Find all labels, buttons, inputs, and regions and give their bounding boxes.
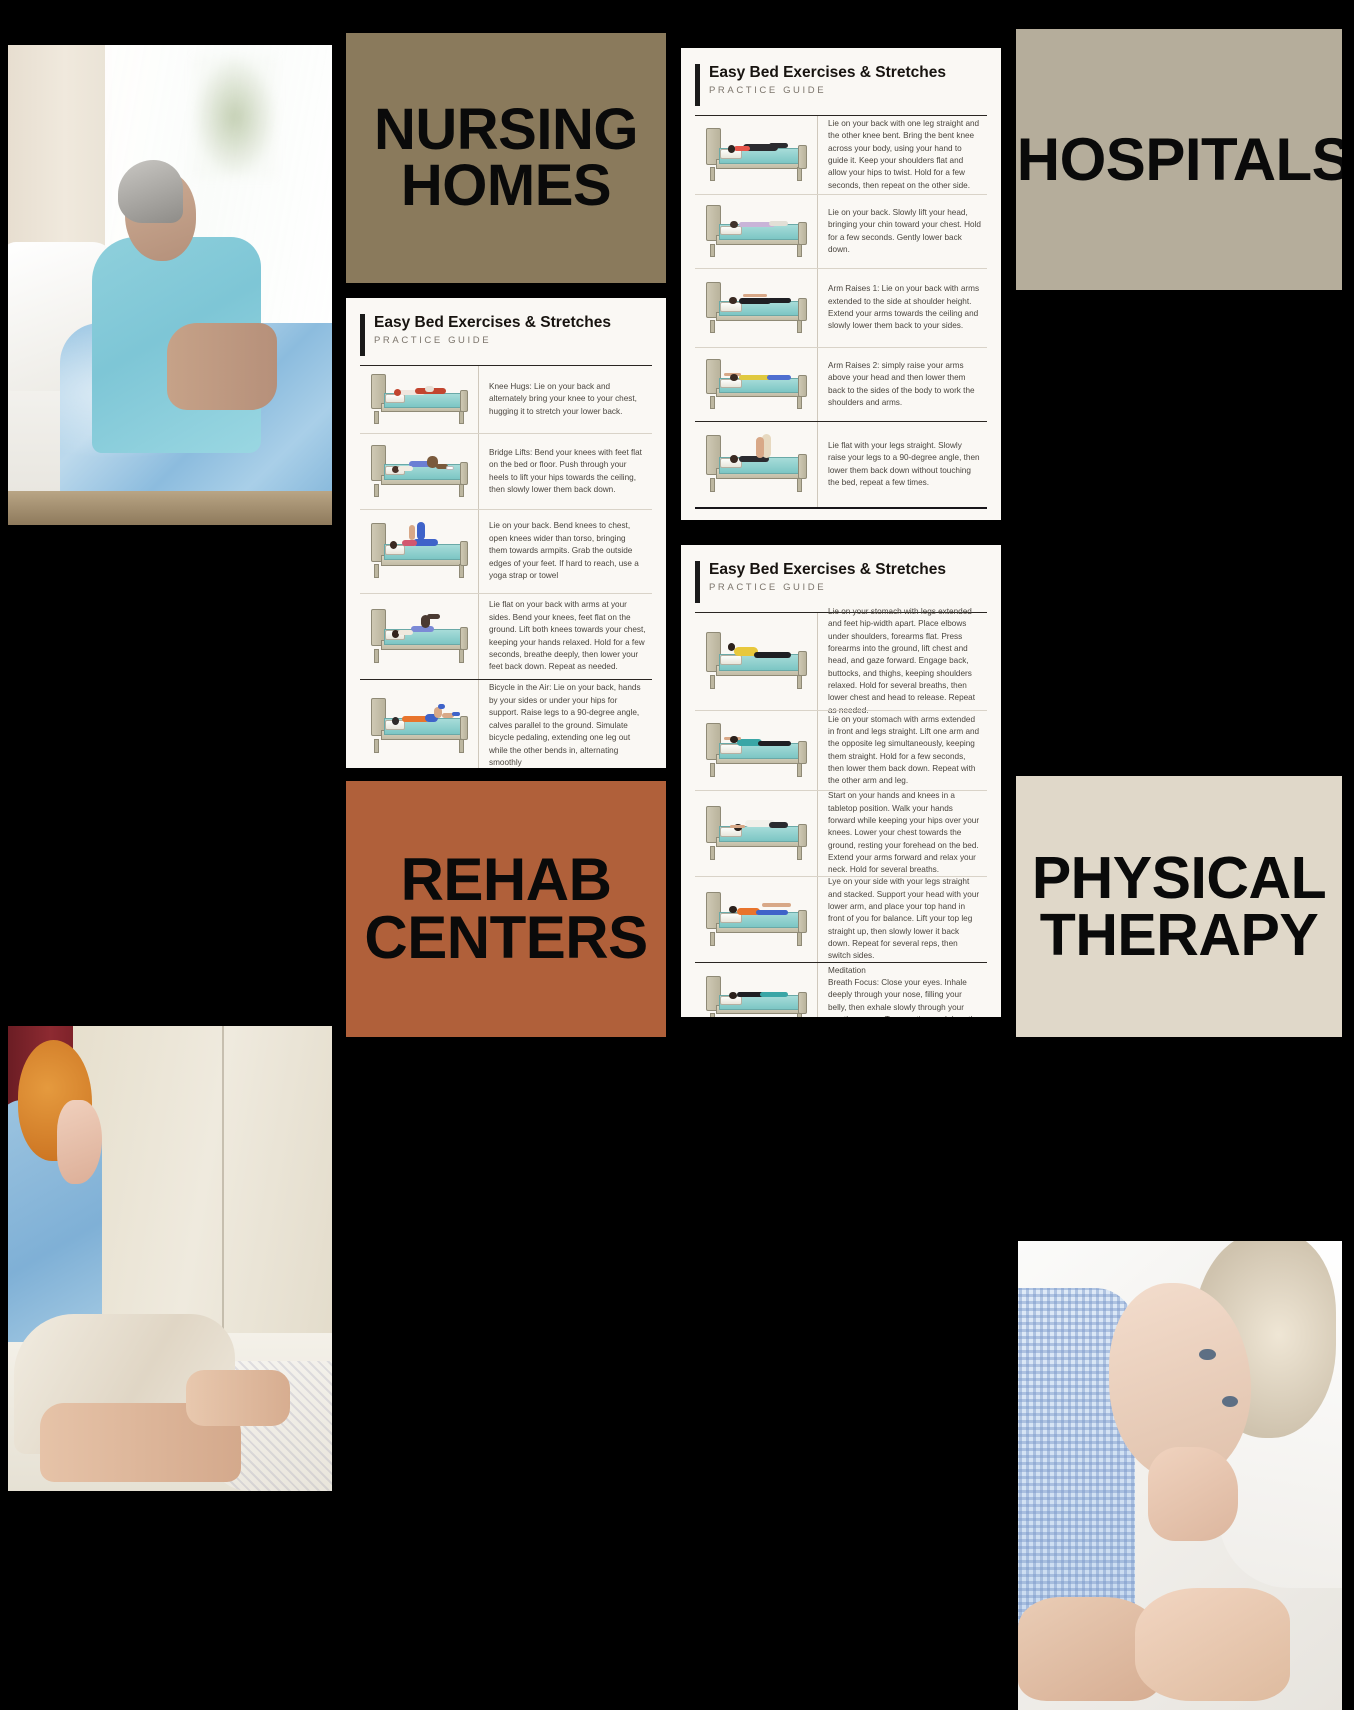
- guide-row-text: Arm Raises 1: Lie on your back with arms…: [817, 269, 987, 347]
- bed-illustration: [702, 973, 810, 1018]
- guide-row-text: Lie on your stomach with arms extended i…: [817, 711, 987, 790]
- guide-card-2-rows: Lie on your back with one leg straight a…: [695, 115, 987, 512]
- exercise-text: Bicycle in the Air: Lie on your back, ha…: [489, 682, 646, 768]
- collage-canvas: NURSING HOMES HOSPITALS REHAB CENTERS PH…: [0, 0, 1354, 1083]
- bed-illustration: [702, 432, 810, 498]
- guide-card-1-title: Easy Bed Exercises & Stretches: [374, 314, 611, 332]
- rehab-centers-line-1: REHAB: [401, 851, 612, 909]
- illustration-bed-side-leg-raises: [695, 877, 817, 962]
- guide-row: Bridge Lifts: Bend your knees with feet …: [360, 433, 652, 509]
- photo3-hand-under-chin: [1148, 1447, 1239, 1541]
- exercise-text: Knee Hugs: Lie on your back and alternat…: [489, 381, 646, 418]
- guide-row-text: Bridge Lifts: Bend your knees with feet …: [478, 434, 652, 509]
- photo2-patient-arm: [186, 1370, 290, 1426]
- exercise-text: Bridge Lifts: Bend your knees with feet …: [489, 447, 646, 497]
- guide-row-text: Meditation Breath Focus: Close your eyes…: [817, 963, 987, 1017]
- bed-illustration: [702, 629, 810, 695]
- exercise-text: Meditation Breath Focus: Close your eyes…: [828, 965, 981, 1017]
- guide-card-3-rows: Lie on your stomach with legs extended a…: [695, 612, 987, 1017]
- guide-card-3: Easy Bed Exercises & Stretches PRACTICE …: [681, 545, 1001, 1017]
- illustration-bed-arm-raises-1: [695, 269, 817, 347]
- bed-illustration: [367, 442, 471, 502]
- exercise-text: Lie on your stomach with legs extended a…: [828, 606, 981, 717]
- bed-illustration: [367, 694, 471, 758]
- guide-row: Lie on your stomach with arms extended i…: [695, 710, 987, 790]
- bed-illustration: [702, 356, 810, 414]
- photo1-patient-hair: [118, 160, 183, 222]
- guide-row-text: Lye on your side with your legs straight…: [817, 877, 987, 962]
- physical-therapy-line-1: PHYSICAL: [1032, 850, 1326, 907]
- guide-row-text: Bicycle in the Air: Lie on your back, ha…: [478, 680, 652, 768]
- guide-card-1-rows: Knee Hugs: Lie on your back and alternat…: [360, 365, 652, 768]
- guide-row: Lie on your stomach with legs extended a…: [695, 612, 987, 710]
- photo1-bed-frame-rail: [8, 491, 332, 525]
- guide-card-3-subtitle: PRACTICE GUIDE: [709, 582, 946, 594]
- illustration-bed-bicycle-in-the-air: [360, 680, 478, 768]
- physical-therapy-line-2: THERAPY: [1040, 907, 1318, 964]
- word-tile-nursing-homes: NURSING HOMES: [346, 33, 666, 283]
- guide-row: Lie on your back. Slowly lift your head,…: [695, 194, 987, 268]
- nursing-homes-line-2: HOMES: [401, 158, 611, 214]
- guide-card-3-header: Easy Bed Exercises & Stretches PRACTICE …: [695, 561, 987, 603]
- guide-row: Bicycle in the Air: Lie on your back, ha…: [360, 679, 652, 768]
- guide-row: Lie flat on your back with arms at your …: [360, 593, 652, 679]
- bed-illustration: [367, 606, 471, 668]
- guide-row-text: Lie on your back with one leg straight a…: [817, 116, 987, 194]
- illustration-bed-meditation-breath-focus: [695, 963, 817, 1017]
- guide-row: Arm Raises 1: Lie on your back with arms…: [695, 268, 987, 347]
- nursing-homes-line-1: NURSING: [374, 102, 638, 158]
- exercise-text: Lye on your side with your legs straight…: [828, 876, 981, 962]
- illustration-bed-childs-pose: [695, 791, 817, 876]
- guide-card-1-subtitle: PRACTICE GUIDE: [374, 335, 611, 347]
- exercise-text: Lie on your stomach with arms extended i…: [828, 714, 981, 788]
- guide-row: Knee Hugs: Lie on your back and alternat…: [360, 365, 652, 433]
- bed-illustration: [702, 889, 810, 951]
- bed-illustration: [702, 720, 810, 782]
- guide-card-3-title: Easy Bed Exercises & Stretches: [709, 561, 946, 579]
- exercise-text: Lie flat with your legs straight. Slowly…: [828, 440, 981, 490]
- exercise-text: Start on your hands and knees in a table…: [828, 790, 981, 876]
- exercise-text: Lie on your back with one leg straight a…: [828, 118, 981, 193]
- illustration-bed-knee-hugs: [360, 366, 478, 433]
- photo-nurse-assisting-patient-leg-on-bed: [8, 1026, 332, 1491]
- guide-card-3-titles: Easy Bed Exercises & Stretches PRACTICE …: [709, 561, 946, 594]
- bed-illustration: [367, 520, 471, 584]
- guide-card-1-titles: Easy Bed Exercises & Stretches PRACTICE …: [374, 314, 611, 347]
- guide-card-2-title: Easy Bed Exercises & Stretches: [709, 64, 946, 82]
- guide-card-2-titles: Easy Bed Exercises & Stretches PRACTICE …: [709, 64, 946, 97]
- illustration-bed-chin-tuck-head-lift: [695, 195, 817, 268]
- guide-row-text: Lie on your back. Slowly lift your head,…: [817, 195, 987, 268]
- guide-row-text: Lie on your stomach with legs extended a…: [817, 613, 987, 710]
- rehab-centers-line-2: CENTERS: [364, 909, 647, 967]
- illustration-bed-opposite-arm-leg-raise: [695, 711, 817, 790]
- guide-row: Lye on your side with your legs straight…: [695, 876, 987, 962]
- photo1-patient-arm: [167, 323, 277, 409]
- guide-row-text: Knee Hugs: Lie on your back and alternat…: [478, 366, 652, 433]
- illustration-bed-bridge-lifts: [360, 434, 478, 509]
- photo-elderly-patient-in-hospital-bed-by-window: [8, 45, 332, 525]
- guide-row: Lie on your back with one leg straight a…: [695, 115, 987, 194]
- word-tile-rehab-centers: REHAB CENTERS: [346, 781, 666, 1037]
- guide-row: Meditation Breath Focus: Close your eyes…: [695, 962, 987, 1017]
- photo1-foliage-through-window: [193, 55, 277, 180]
- guide-row: Lie on your back. Bend knees to chest, o…: [360, 509, 652, 593]
- exercise-text: Lie flat on your back with arms at your …: [489, 599, 646, 674]
- exercise-text: Lie on your back. Slowly lift your head,…: [828, 207, 981, 257]
- guide-row-text: Arm Raises 2: simply raise your arms abo…: [817, 348, 987, 421]
- illustration-bed-supine-twist: [695, 116, 817, 194]
- guide-row-text: Lie on your back. Bend knees to chest, o…: [478, 510, 652, 593]
- photo3-eye-left: [1199, 1349, 1215, 1360]
- guide-row-text: Start on your hands and knees in a table…: [817, 791, 987, 876]
- photo-elderly-woman-lying-down-hands-held: [1018, 1241, 1342, 1710]
- guide-card-1: Easy Bed Exercises & Stretches PRACTICE …: [346, 298, 666, 768]
- guide-row-text: Lie flat with your legs straight. Slowly…: [817, 422, 987, 507]
- illustration-bed-happy-baby: [360, 510, 478, 593]
- guide-card-1-header: Easy Bed Exercises & Stretches PRACTICE …: [360, 314, 652, 356]
- word-tile-physical-therapy: PHYSICAL THERAPY: [1016, 776, 1342, 1037]
- photo3-caregiver-hand: [1135, 1588, 1291, 1701]
- guide-row: Arm Raises 2: simply raise your arms abo…: [695, 347, 987, 421]
- guide-row: Start on your hands and knees in a table…: [695, 790, 987, 876]
- bed-illustration: [702, 202, 810, 262]
- guide-card-2-header: Easy Bed Exercises & Stretches PRACTICE …: [695, 64, 987, 106]
- exercise-text: Arm Raises 1: Lie on your back with arms…: [828, 283, 981, 333]
- guide-row: Lie flat with your legs straight. Slowly…: [695, 421, 987, 509]
- exercise-text: Arm Raises 2: simply raise your arms abo…: [828, 360, 981, 410]
- bed-illustration: [367, 371, 471, 429]
- illustration-bed-arm-raises-2: [695, 348, 817, 421]
- word-tile-hospitals: HOSPITALS: [1016, 29, 1342, 290]
- title-accent-bar: [695, 561, 700, 603]
- illustration-bed-double-knee-to-chest: [360, 594, 478, 679]
- title-accent-bar: [695, 64, 700, 106]
- illustration-bed-straight-leg-raises: [695, 422, 817, 507]
- hospitals-line-1: HOSPITALS: [1017, 131, 1342, 189]
- bed-illustration: [702, 803, 810, 865]
- illustration-bed-sphinx-pose: [695, 613, 817, 710]
- guide-row-text: Lie flat on your back with arms at your …: [478, 594, 652, 679]
- bed-illustration: [702, 124, 810, 186]
- photo2-wall: [73, 1026, 332, 1361]
- photo2-wall-seam: [222, 1026, 224, 1361]
- exercise-text: Lie on your back. Bend knees to chest, o…: [489, 520, 646, 582]
- title-accent-bar: [360, 314, 365, 356]
- guide-card-2: Easy Bed Exercises & Stretches PRACTICE …: [681, 48, 1001, 520]
- guide-card-2-subtitle: PRACTICE GUIDE: [709, 85, 946, 97]
- bed-illustration: [702, 278, 810, 338]
